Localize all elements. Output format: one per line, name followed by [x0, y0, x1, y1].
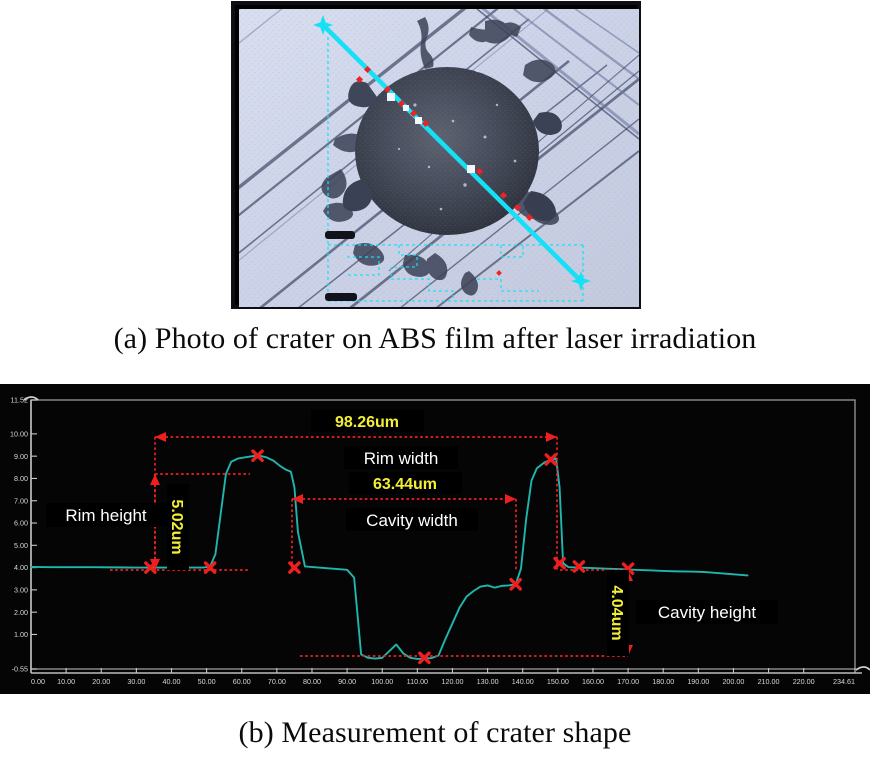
- x-tick-label: 160.00: [582, 677, 604, 686]
- cavity-width-value: 63.44um: [373, 476, 437, 493]
- cavity-height-label: Cavity height: [658, 603, 757, 622]
- x-tick-label: 220.00: [793, 677, 815, 686]
- y-tick-label: 3.00: [14, 585, 28, 594]
- x-tick-label: 70.00: [268, 677, 286, 686]
- x-tick-label: 80.00: [303, 677, 321, 686]
- x-tick-label: 60.00: [233, 677, 251, 686]
- x-tick-label: 100.00: [371, 677, 393, 686]
- x-tick-label: 10.00: [57, 677, 75, 686]
- x-tick-label: 110.00: [407, 677, 428, 686]
- figure-root: (a) Photo of crater on ABS film after la…: [0, 0, 870, 759]
- x-tick-label: 140.00: [512, 677, 534, 686]
- x-tick-label: 0.00: [31, 677, 45, 686]
- y-tick-label: 9.00: [14, 452, 28, 461]
- x-tick-label: 170.00: [617, 677, 639, 686]
- chart-background: [0, 384, 870, 694]
- rim-width-label: Rim width: [364, 449, 439, 468]
- x-tick-label: 190.00: [687, 677, 709, 686]
- y-tick-label: 7.00: [14, 496, 28, 505]
- x-tick-label: 180.00: [652, 677, 674, 686]
- x-tick-label: 150.00: [547, 677, 569, 686]
- caption-a: (a) Photo of crater on ABS film after la…: [0, 322, 870, 356]
- x-tick-label: 200.00: [722, 677, 744, 686]
- cavity-height-value: 4.04um: [608, 585, 625, 640]
- x-tick-label: 210.00: [758, 677, 780, 686]
- y-tick-label: 10.00: [10, 429, 28, 438]
- rim-height-label: Rim height: [65, 506, 147, 525]
- x-tick-label: 234.61: [833, 677, 855, 686]
- x-tick-label: 40.00: [162, 677, 180, 686]
- crater-profile-chart: 0.0010.0020.0030.0040.0050.0060.0070.008…: [0, 384, 870, 694]
- y-tick-label: 2.00: [14, 608, 28, 617]
- rim-width-value: 98.26um: [335, 414, 399, 431]
- y-tick-label: 8.00: [14, 474, 28, 483]
- caption-b: (b) Measurement of crater shape: [0, 716, 870, 750]
- crater-photo-panel: [231, 1, 641, 309]
- y-tick-label: 1.00: [14, 630, 28, 639]
- y-tick-label: 6.00: [14, 519, 28, 528]
- x-tick-label: 130.00: [477, 677, 499, 686]
- crater-micrograph-svg: [239, 9, 639, 307]
- y-tick-label: 4.00: [14, 563, 28, 572]
- x-tick-label: 90.00: [338, 677, 356, 686]
- x-tick-label: 30.00: [127, 677, 145, 686]
- cavity-width-label: Cavity width: [366, 511, 458, 530]
- profile-chart-svg: 0.0010.0020.0030.0040.0050.0060.0070.008…: [0, 384, 870, 694]
- y-tick-label: -0.55: [12, 665, 28, 674]
- x-tick-label: 120.00: [441, 677, 463, 686]
- x-tick-label: 50.00: [198, 677, 216, 686]
- y-tick-label: 5.00: [14, 541, 28, 550]
- crater-photo-image: [239, 9, 639, 307]
- x-tick-label: 20.00: [92, 677, 110, 686]
- rim-height-value: 5.02um: [168, 499, 185, 554]
